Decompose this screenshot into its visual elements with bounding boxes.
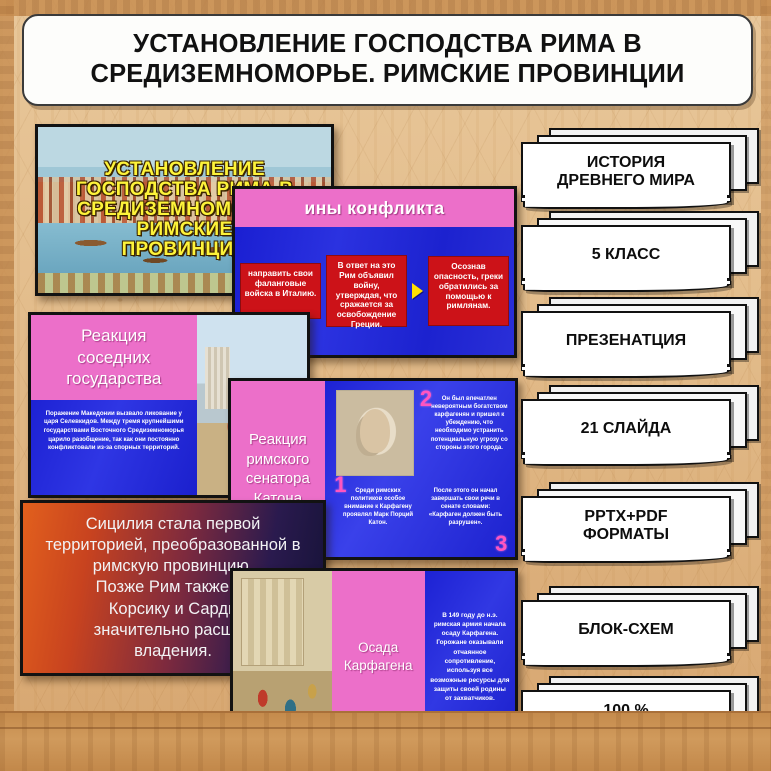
- katon-paragraph-1: Среди римских политиков особое внимание …: [342, 487, 414, 527]
- left-border-band: [0, 0, 14, 771]
- neighbors-body-text: Поражение Македонии вызвало ликование у …: [31, 400, 197, 495]
- katon-content-area: 2 Он был впечатлен невероятным богатство…: [325, 381, 515, 557]
- cato-portrait-image: [336, 390, 414, 476]
- sicily-line-1: Сицилия стала первой: [46, 514, 301, 535]
- label-text: БЛОК-СХЕМ: [523, 602, 729, 658]
- label-text: ПРЕЗЕНАТЦИЯ: [523, 313, 729, 369]
- paper-curl: [523, 195, 729, 209]
- title-line-5: ПРОВИНЦИИ: [122, 240, 248, 260]
- label-line-1: ПРЕЗЕНАТЦИЯ: [566, 332, 686, 350]
- label-text: 21 СЛАЙДА: [523, 401, 729, 457]
- label-text: 5 КЛАСС: [523, 227, 729, 283]
- sheet-front[interactable]: ИСТОРИЯ ДРЕВНЕГО МИРА: [521, 142, 731, 202]
- page-title-line-1: УСТАНОВЛЕНИЕ ГОСПОДСТВА РИМА В: [90, 30, 684, 60]
- title-line-4: РИМСКИЕ: [137, 220, 233, 240]
- paper-curl: [523, 364, 729, 378]
- carthage-title-line-2: Карфагена: [344, 657, 413, 675]
- neighbors-title: Реакция соседних государства: [31, 315, 197, 400]
- paper-curl: [523, 653, 729, 667]
- label-line-1: 5 КЛАСС: [592, 246, 661, 264]
- arrow-right-icon: [412, 283, 423, 299]
- neighbors-title-line-3: государства: [66, 368, 161, 389]
- sheet-front[interactable]: БЛОК-СХЕМ: [521, 600, 731, 660]
- katon-title-line-1: Реакция: [249, 430, 307, 450]
- katon-paragraph-2: Он был впечатлен невероятным богатством …: [429, 395, 509, 452]
- label-line-1: PPTX+PDF: [584, 508, 667, 526]
- label-line-2: ФОРМАТЫ: [583, 526, 669, 544]
- title-line-1: УСТАНОВЛЕНИЕ: [104, 160, 265, 180]
- katon-paragraph-3: После этого он начал завершать свои речи…: [426, 487, 506, 527]
- label-line-1: 21 СЛАЙДА: [581, 420, 672, 438]
- sheet-front[interactable]: PPTX+PDF ФОРМАТЫ: [521, 496, 731, 556]
- paper-curl: [523, 452, 729, 466]
- conflict-slide-heading: ины конфликта: [235, 189, 514, 227]
- right-border-band: [761, 0, 771, 771]
- paper-curl: [523, 549, 729, 563]
- poster-canvas: УСТАНОВЛЕНИЕ ГОСПОДСТВА РИМА В СРЕДИЗЕМН…: [0, 0, 771, 771]
- conflict-heading-text: ины конфликта: [305, 198, 445, 219]
- label-text: PPTX+PDF ФОРМАТЫ: [523, 498, 729, 554]
- katon-number-3: 3: [495, 533, 507, 555]
- neighbors-title-line-2: соседних: [77, 347, 150, 368]
- label-text: ИСТОРИЯ ДРЕВНЕГО МИРА: [523, 144, 729, 200]
- paper-curl: [523, 278, 729, 292]
- neighbors-left-column: Реакция соседних государства Поражение М…: [31, 315, 197, 495]
- conflict-box-left: направить свои фаланговые войска в Итали…: [240, 263, 321, 319]
- page-title: УСТАНОВЛЕНИЕ ГОСПОДСТВА РИМА В СРЕДИЗЕМН…: [76, 30, 698, 89]
- poster-title-card: УСТАНОВЛЕНИЕ ГОСПОДСТВА РИМА В СРЕДИЗЕМН…: [22, 14, 753, 106]
- conflict-box-middle: В ответ на это Рим объявил войну, утверж…: [326, 255, 407, 327]
- conflict-box-right: Осознав опасность, греки обратились за п…: [428, 256, 509, 326]
- katon-title-line-3: сенатора: [246, 469, 310, 489]
- bottom-border-band: [0, 711, 771, 771]
- label-line-1: ИСТОРИЯ: [587, 154, 665, 172]
- katon-title-line-2: римского: [246, 450, 309, 470]
- label-line-1: БЛОК-СХЕМ: [578, 621, 673, 639]
- label-line-2: ДРЕВНЕГО МИРА: [557, 172, 695, 190]
- sheet-front[interactable]: 5 КЛАСС: [521, 225, 731, 285]
- carthage-title-line-1: Осада: [358, 639, 398, 657]
- neighbors-title-line-1: Реакция: [81, 325, 146, 346]
- sheet-front[interactable]: ПРЕЗЕНАТЦИЯ: [521, 311, 731, 371]
- page-title-line-2: СРЕДИЗЕМНОМОРЬЕ. РИМСКИЕ ПРОВИНЦИИ: [90, 60, 684, 90]
- sicily-line-2: территорией, преобразованной в: [46, 535, 301, 556]
- sheet-front[interactable]: 21 СЛАЙДА: [521, 399, 731, 459]
